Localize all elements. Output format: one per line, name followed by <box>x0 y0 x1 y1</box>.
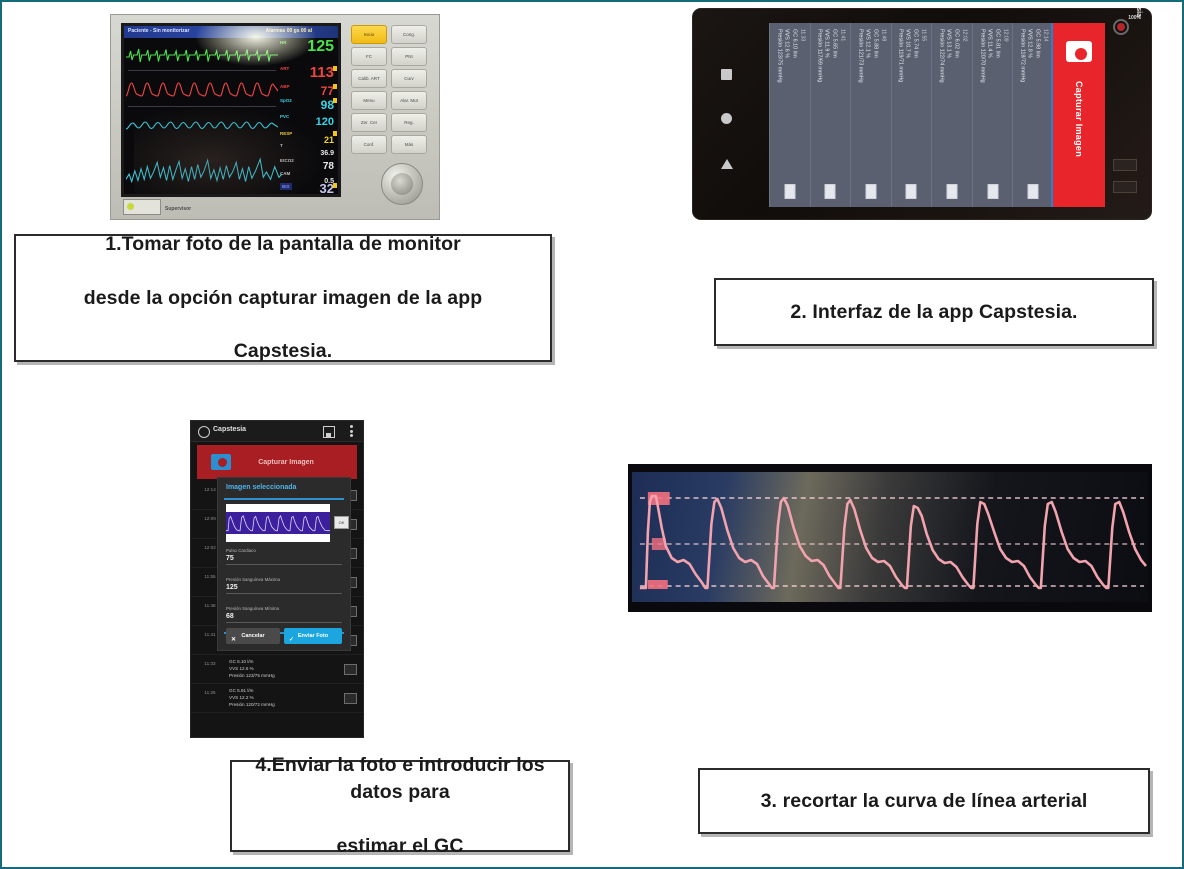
monitor-topbar: Paciente - Sin monitorizar Alarmas 00 gs… <box>124 26 338 38</box>
caption-1-line-3: Capstesia. <box>74 338 493 365</box>
monitor-brand-label: Supervisor <box>165 206 191 212</box>
readout-bis-label: BIS <box>280 183 292 190</box>
field-presion-minima[interactable]: Presión Sanguínea Mínima 68 <box>226 606 342 623</box>
caption-2-line-1: 2. Interfaz de la app Capstesia. <box>780 299 1087 326</box>
caption-step-4: 4.Enviar la foto e introducir los datos … <box>230 760 570 852</box>
readout-art-dia-label: ABP <box>280 84 290 89</box>
ecg-waveform <box>126 40 278 66</box>
phone-nav-column[interactable] <box>709 9 753 219</box>
list-item-gc: GC 5.65 l/m <box>832 29 838 58</box>
recent-apps-icon[interactable] <box>721 69 732 80</box>
field-label: Presión Sanguínea Máxima <box>226 577 342 582</box>
cancel-icon: ✕ <box>231 632 236 648</box>
list-item[interactable]: 11:48 GC 5.88 l/m VVS 12.1 % Presión 121… <box>850 23 891 207</box>
list-item-vvs: VVS 12.2 % <box>229 695 254 700</box>
readout-spo2-label: SpO2 <box>280 98 292 103</box>
list-item-time: 11:41 <box>840 29 846 41</box>
app-logo-icon <box>198 426 210 438</box>
monitor-photo: Paciente - Sin monitorizar Alarmas 00 gs… <box>110 14 440 220</box>
readout-hr-label: HR <box>280 40 287 45</box>
monitor-key-curv[interactable]: Curv <box>391 69 427 88</box>
list-item-vvs: VVS 12.6 % <box>229 666 254 671</box>
readout-pvc-value: 120 <box>316 116 334 128</box>
monitor-patient-label: Paciente - Sin monitorizar <box>128 28 189 34</box>
list-item-vvs: VVS 12.8 % <box>1027 29 1033 58</box>
monitor-alarm-label: Alarmas 00 gs 00 al <box>266 28 312 34</box>
caption-3-line-1: 3. recortar la curva de línea arterial <box>751 788 1098 815</box>
field-value[interactable]: 68 <box>226 613 342 620</box>
phone-portrait-chassis: Capstesia Capturar Imagen 12:14 GC 5.98 … <box>190 420 364 738</box>
list-item[interactable]: 11:33 GC 6.10 l/m VVS 12.6 % Presión 123… <box>769 23 810 207</box>
monitor-key-cong[interactable]: Cong. <box>391 25 427 44</box>
caption-4-line-2: estimar el GC <box>242 833 558 860</box>
list-item-vvs: VVS 12.1 % <box>865 29 871 58</box>
list-item-vvs: VVS 13.1 % <box>946 29 952 58</box>
readout-spo2-value: 98 <box>321 98 334 112</box>
monitor-chassis: Paciente - Sin monitorizar Alarmas 00 gs… <box>110 14 440 220</box>
phone-landscape-chassis: 12:14 GC 5.98 l/m VVS 12.8 % Presión 118… <box>692 8 1152 220</box>
save-icon[interactable] <box>323 426 335 438</box>
arterial-photo-content <box>632 472 1148 602</box>
list-item-icon[interactable] <box>784 184 795 199</box>
thumbnail-ok-button[interactable]: OK <box>334 516 349 529</box>
readout-art-sys-value: 113 <box>310 64 334 81</box>
field-pulso-cardiaco[interactable]: Pulso Cardiaco 75 <box>226 548 342 565</box>
list-item-presion: Presión 120/70 mmHg <box>979 29 985 83</box>
caption-step-2: 2. Interfaz de la app Capstesia. <box>714 278 1154 346</box>
list-item-presion: Presión 121/73 mmHg <box>857 29 863 83</box>
list-item-gc: GC 5.74 l/m <box>913 29 919 58</box>
readout-gas-label: CAM <box>280 171 290 176</box>
monitor-key-alarm-mute[interactable]: Alar. Mut <box>391 91 427 110</box>
phone-portrait-photo: Capstesia Capturar Imagen 12:14 GC 5.98 … <box>190 420 364 738</box>
selected-image-dialog: Imagen seleccionada OK Pulso Cardiaco 75 <box>217 477 351 651</box>
monitor-key-more[interactable]: Más <box>391 135 427 154</box>
list-item-presion: Presión 123/75 mmHg <box>229 673 275 678</box>
list-item-vvs: VVS 11.4 % <box>987 29 993 58</box>
selected-image-thumbnail[interactable] <box>226 504 330 542</box>
list-item-vvs: VVS 12.6 % <box>784 29 790 58</box>
list-item-gc: GC 5.98 l/m <box>1035 29 1041 58</box>
arterial-trace <box>632 472 1148 602</box>
list-item[interactable]: 11:55 GC 5.74 l/m VVS 10.7 % Presión 119… <box>891 23 932 207</box>
list-item[interactable]: 12:09 GC 5.81 l/m VVS 11.4 % Presión 120… <box>972 23 1013 207</box>
list-item-time: 11:48 <box>881 29 887 41</box>
readout-resp-label: RESP <box>280 131 292 136</box>
caption-1-line-1: 1.Tomar foto de la pantalla de monitor <box>74 231 493 258</box>
caption-4-line-1: 4.Enviar la foto e introducir los datos … <box>242 752 558 806</box>
back-icon[interactable] <box>721 159 733 169</box>
monitor-screen: Paciente - Sin monitorizar Alarmas 00 gs… <box>121 23 341 197</box>
list-item-time: 11:33 <box>197 661 223 667</box>
list-item-time: 12:14 <box>1043 29 1049 42</box>
thumbnail-waveform <box>226 512 330 534</box>
send-icon: ✓ <box>289 632 294 648</box>
monitor-key-inicio[interactable]: Inicio <box>351 25 387 44</box>
list-item-gc: GC 5.88 l/m <box>873 29 879 58</box>
readout-temp-label: T <box>280 143 283 148</box>
monitor-key-menu[interactable]: Menu <box>351 91 387 110</box>
monitor-key-pni[interactable]: PNI <box>391 47 427 66</box>
list-item-gc: GC 6.10 l/m <box>229 659 254 664</box>
list-item-gc: GC 5.81 l/m <box>994 29 1000 58</box>
eeg-waveform <box>126 156 282 190</box>
list-item-icon[interactable] <box>865 184 876 199</box>
readout-art-sys-label: ART <box>280 66 289 71</box>
caption-1-line-2: desde la opción capturar imagen de la ap… <box>74 285 493 312</box>
readout-bis-value: 32 <box>320 181 334 196</box>
monitor-readouts: 125 HR 113 ART 77 ABP 98 SpO2 120 PVC 21… <box>280 38 336 194</box>
list-item-presion: Presión 117/69 mmHg <box>816 29 822 82</box>
list-item-time: 11:33 <box>799 29 805 41</box>
field-value[interactable]: 75 <box>226 555 342 562</box>
dialog-actions: ✕ Cancelar ✓ Enviar Foto <box>226 628 342 644</box>
arterial-photo-frame <box>628 464 1152 612</box>
app-title: Capstesia <box>213 426 246 433</box>
list-item-gc: GC 6.10 l/m <box>792 29 798 58</box>
list-item[interactable]: 12:14 GC 5.98 l/m VVS 12.8 % Presión 118… <box>1012 23 1053 207</box>
monitor-key-calib[interactable]: Calib. ART <box>351 69 387 88</box>
monitor-key-fc[interactable]: FC <box>351 47 387 66</box>
list-item[interactable]: 11:33 GC 6.10 l/m VVS 12.6 % Presión 123… <box>191 655 363 684</box>
capture-image-label: Capturar Imagen <box>231 459 357 466</box>
home-icon[interactable] <box>721 113 732 124</box>
readout-hr-value: 125 <box>307 38 334 55</box>
arterial-waveform <box>126 76 278 102</box>
list-item-gc: GC 5.91 l/m <box>229 688 254 693</box>
phone-landscape-photo: 12:14 GC 5.98 l/m VVS 12.8 % Presión 118… <box>692 8 1152 220</box>
camera-icon <box>211 454 231 470</box>
camera-lens-icon <box>1113 19 1129 35</box>
phone-landscape-screen: 12:14 GC 5.98 l/m VVS 12.8 % Presión 118… <box>769 23 1105 207</box>
field-label: Presión Sanguínea Mínima <box>226 606 342 611</box>
caption-step-1: 1.Tomar foto de la pantalla de monitor d… <box>14 234 552 362</box>
readout-etco2-label: EtCO2 <box>280 158 294 163</box>
monitor-rotary-knob[interactable] <box>381 163 423 205</box>
list-item[interactable]: 11:26 GC 5.91 l/m VVS 12.2 % Presión 120… <box>191 684 363 713</box>
measurement-list[interactable]: 12:14 GC 5.98 l/m VVS 12.8 % Presión 118… <box>769 23 1053 207</box>
list-item-icon[interactable] <box>987 184 998 199</box>
caption-step-3: 3. recortar la curva de línea arterial <box>698 768 1150 834</box>
field-presion-maxima[interactable]: Presión Sanguínea Máxima 125 <box>226 577 342 594</box>
app-toolbar: Capstesia <box>191 421 363 442</box>
list-item-vvs: VVS 11.9 % <box>824 29 830 58</box>
list-item[interactable]: 12:02 GC 6.02 l/m VVS 13.1 % Presión 122… <box>931 23 972 207</box>
list-item-icon[interactable] <box>825 184 836 199</box>
phone-side-button-upper[interactable] <box>1113 159 1137 171</box>
list-item-presion: Presión 120/72 mmHg <box>229 702 275 707</box>
list-item-presion: Presión 118/72 mmHg <box>1019 29 1025 82</box>
spo2-waveform <box>126 112 278 138</box>
camera-icon <box>1066 41 1092 62</box>
capture-image-label: Capturar Imagen <box>1074 81 1084 157</box>
dialog-title: Imagen seleccionada <box>226 484 296 491</box>
cancel-label: Cancelar <box>241 633 264 639</box>
list-item-time: 11:26 <box>197 690 223 696</box>
readout-pvc-label: PVC <box>280 114 289 119</box>
monitor-key-conf[interactable]: Conf. <box>351 135 387 154</box>
list-item-presion: Presión 122/74 mmHg <box>938 29 944 83</box>
field-value[interactable]: 125 <box>226 584 342 591</box>
capture-image-button[interactable]: Capturar Imagen <box>1051 23 1105 207</box>
overflow-menu-icon[interactable] <box>350 425 353 437</box>
list-item-time: 12:02 <box>962 29 968 42</box>
figure-page: Paciente - Sin monitorizar Alarmas 00 gs… <box>0 0 1184 869</box>
monitor-key-zero[interactable]: Zer. Cer <box>351 113 387 132</box>
list-item-time: 11:55 <box>921 29 927 41</box>
list-item-icon[interactable] <box>1028 184 1039 199</box>
list-item-icon[interactable] <box>344 664 357 675</box>
cancel-button[interactable]: ✕ Cancelar <box>226 628 280 644</box>
phone-side-button-lower[interactable] <box>1113 181 1137 193</box>
capture-image-button[interactable]: Capturar Imagen <box>197 445 357 479</box>
monitor-key-reg[interactable]: Reg. <box>391 113 427 132</box>
send-label: Enviar Foto <box>298 633 328 639</box>
list-item-vvs: VVS 10.7 % <box>905 29 911 58</box>
battery-label: 100% <box>1128 15 1141 21</box>
list-item-presion: Presión 119/71 mmHg <box>898 29 904 82</box>
field-label: Pulso Cardiaco <box>226 548 342 553</box>
list-item-time: 12:09 <box>1002 29 1008 42</box>
list-item-icon[interactable] <box>344 693 357 704</box>
list-item-icon[interactable] <box>947 184 958 199</box>
list-item[interactable]: 11:41 GC 5.65 l/m VVS 11.9 % Presión 117… <box>810 23 851 207</box>
arterial-curve-photo <box>628 464 1152 612</box>
list-item-gc: GC 6.02 l/m <box>954 29 960 58</box>
list-item-presion: Presión 123/75 mmHg <box>776 29 782 83</box>
send-photo-button[interactable]: ✓ Enviar Foto <box>284 628 342 644</box>
monitor-logo <box>123 199 161 215</box>
list-item-icon[interactable] <box>906 184 917 199</box>
